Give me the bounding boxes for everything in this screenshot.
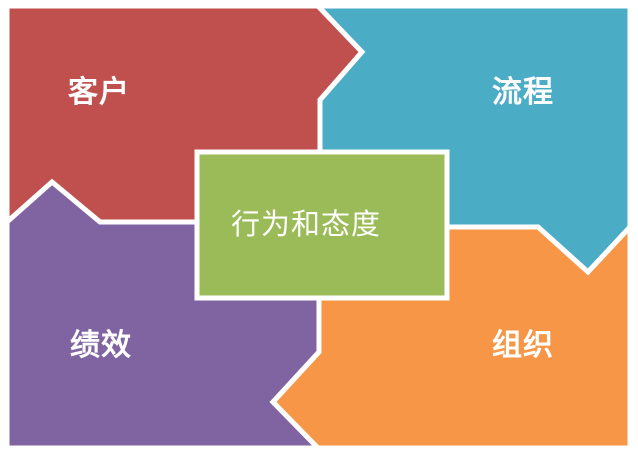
center-label-behavior-and-attitude: 行为和态度 xyxy=(231,210,381,239)
quadrant-label-process: 流程 xyxy=(492,78,554,108)
quadrant-label-customer: 客户 xyxy=(68,78,130,108)
diagram-canvas: 客户 流程 绩效 组织 行为和态度 xyxy=(0,0,638,456)
quadrant-label-organization: 组织 xyxy=(492,331,554,361)
quadrant-label-performance: 绩效 xyxy=(70,331,132,361)
